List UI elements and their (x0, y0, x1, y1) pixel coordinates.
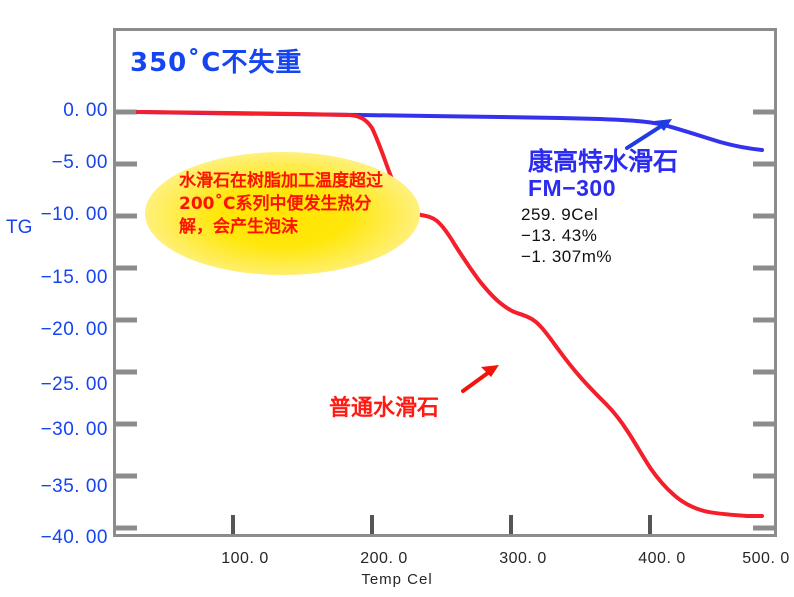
series-label-blue-line1: 康高特水滑石 (528, 148, 678, 175)
chart-title-note: 350˚C不失重 (130, 42, 302, 79)
y-tick-label-4: −20. 00 (12, 320, 108, 339)
y-tick-label-6: −30. 00 (12, 420, 108, 439)
y-tick-label-5: −25. 00 (12, 375, 108, 394)
x-axis-title-text: Temp Cel (361, 571, 432, 588)
measurement-readout: 259. 9Cel −13. 43% −1. 307m% (521, 204, 612, 267)
y-axis-title-text: TG (6, 217, 32, 238)
series-label-blue: 康高特水滑石 FM−300 (528, 148, 678, 202)
readout-mass-milli-percent: −1. 307m% (521, 246, 612, 267)
x-tick-label-400: 400. 0 (617, 550, 707, 568)
chart-canvas: 0. 00 −5. 00 −10. 00 −15. 00 −20. 00 −25… (0, 0, 794, 597)
series-label-blue-line2: FM−300 (528, 175, 678, 202)
x-tick-label-500: 500. 0 (721, 550, 794, 568)
callout-text: 水滑石在树脂加工温度超过200˚C系列中便发生热分解，会产生泡沫 (179, 170, 401, 239)
y-tick-label-0: 0. 00 (12, 101, 108, 120)
y-tick-label-3: −15. 00 (12, 268, 108, 287)
x-axis-title: Temp Cel (0, 571, 794, 588)
readout-temperature: 259. 9Cel (521, 204, 612, 225)
readout-mass-percent: −13. 43% (521, 225, 612, 246)
chart-plot-svg (0, 0, 794, 597)
y-tick-label-1: −5. 00 (12, 153, 108, 172)
y-tick-label-7: −35. 00 (12, 477, 108, 496)
y-axis-tick-labels: 0. 00 −5. 00 −10. 00 −15. 00 −20. 00 −25… (0, 0, 108, 597)
series-label-red: 普通水滑石 (329, 390, 439, 422)
x-tick-label-200: 200. 0 (339, 550, 429, 568)
x-tick-label-300: 300. 0 (478, 550, 568, 568)
plot-frame (115, 30, 776, 536)
y-tick-label-8: −40. 00 (12, 528, 108, 547)
y-axis-title: TG (6, 218, 32, 237)
x-tick-label-100: 100. 0 (200, 550, 290, 568)
